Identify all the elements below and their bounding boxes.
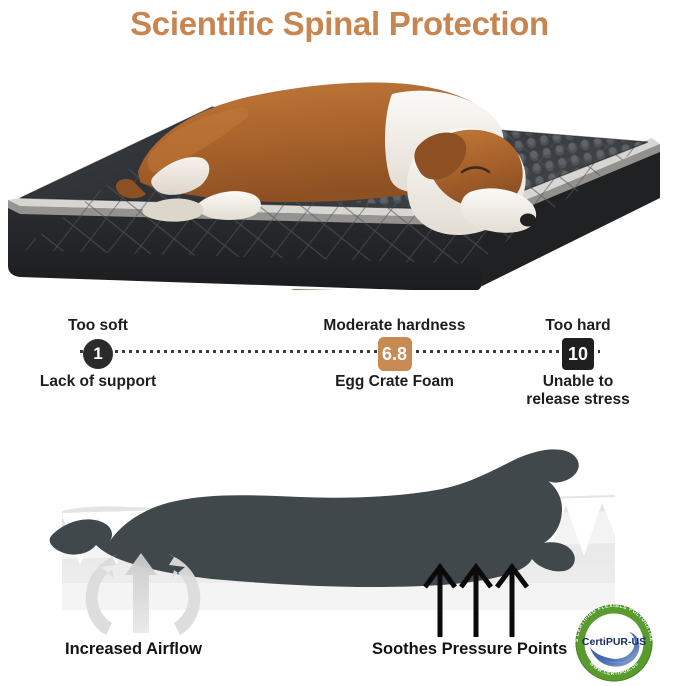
scale-marker-1: 1 (83, 339, 113, 369)
scale-marker-6-8: 6.8 (378, 337, 412, 371)
badge-registered-mark: ® (643, 635, 646, 640)
scale-marker-10: 10 (562, 338, 594, 370)
scale-unable-release-line2: release stress (510, 391, 646, 409)
scale-egg-crate-foam-label: Egg Crate Foam (307, 373, 482, 391)
soothes-pressure-points-caption: Soothes Pressure Points (372, 640, 567, 659)
increased-airflow-caption: Increased Airflow (65, 640, 202, 659)
page-title: Scientific Spinal Protection (0, 0, 679, 48)
pressure-arrows (425, 567, 527, 637)
dog-nose (520, 214, 536, 227)
certipur-us-badge: CONTAINS CERTIFIED FLEXIBLE POLYURETHANE… (568, 597, 660, 685)
infographic-root: Scientific Spinal Protection (0, 0, 679, 686)
scale-too-soft-label: Too soft (18, 317, 178, 335)
product-photo (0, 50, 679, 290)
scale-lack-of-support-label: Lack of support (18, 373, 178, 391)
badge-center-text: CertiPUR-US (582, 636, 646, 648)
scale-group-too-hard: Too hard 10 Unable to release stress (510, 317, 646, 409)
scale-too-hard-label: Too hard (510, 317, 646, 335)
scale-group-too-soft: Too soft 1 Lack of support (18, 317, 178, 391)
scale-moderate-hardness-label: Moderate hardness (307, 317, 482, 335)
scale-unable-release-line1: Unable to (510, 373, 646, 391)
brand-logo-patch (289, 289, 352, 290)
scale-group-moderate: Moderate hardness 6.8 Egg Crate Foam (307, 317, 482, 391)
hardness-scale: Too soft 1 Lack of support Moderate hard… (0, 305, 679, 415)
